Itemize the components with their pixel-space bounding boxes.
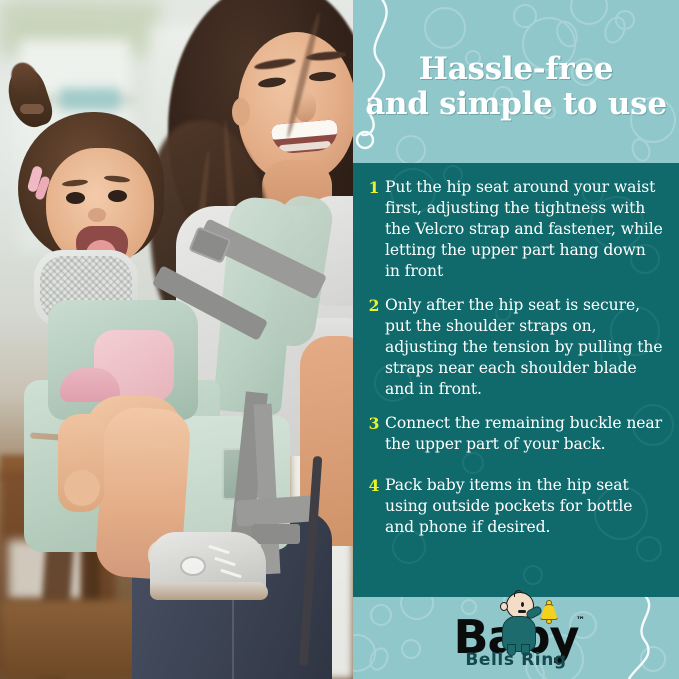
step-number: 2 [363,295,385,316]
step-number: 1 [363,177,385,198]
step-number: 3 [363,413,385,434]
step-text: Put the hip seat around your waist first… [385,177,663,282]
mascot-mouth [518,610,526,613]
baby-eye-left [66,192,85,204]
page-title: Hassle-free and simple to use [353,52,679,123]
woman-ear [232,98,250,126]
trademark-symbol: ™ [576,616,585,626]
step-item: 4 Pack baby items in the hip seat using … [363,475,663,538]
step-number: 4 [363,475,385,496]
step-item: 2 Only after the hip seat is secure, put… [363,295,663,400]
sneaker-sole [150,582,268,600]
logo-tagline: Bells Ring [416,650,616,670]
background-teal-object [60,88,120,110]
hip-belt-strap [235,495,315,526]
bell-icon [538,600,560,624]
baby-hair-tie [20,104,44,114]
step-text: Pack baby items in the hip seat using ou… [385,475,663,538]
step-item: 1 Put the hip seat around your waist fir… [363,177,663,282]
brand-logo[interactable]: Baby ™ [353,604,679,679]
headline-line-2: and simple to use [353,87,679,122]
step-text: Only after the hip seat is secure, put t… [385,295,663,400]
mascot-eye [521,602,524,607]
baby-eye-right [108,190,127,202]
step-item: 3 Connect the remaining buckle near the … [363,413,663,455]
bell-body [540,604,558,620]
mascot-ear [500,602,508,611]
instructions-band: 1 Put the hip seat around your waist fir… [353,163,679,597]
bell-clapper [546,619,552,624]
baby-mascot-icon [494,592,548,654]
product-lifestyle-photo [0,0,353,679]
headline-line-1: Hassle-free [419,51,613,87]
steps-list: 1 Put the hip seat around your waist fir… [353,163,679,597]
infographic-root: 1 Put the hip seat around your waist fir… [0,0,679,679]
sneaker-logo [182,558,204,574]
step-text: Connect the remaining buckle near the up… [385,413,663,455]
hip-belt-tail [252,524,300,544]
wood-floor [0,600,150,679]
baby-hand [64,470,100,506]
baby-nose [88,208,106,222]
text-panel: 1 Put the hip seat around your waist fir… [353,0,679,679]
mascot-hair-curl [514,590,523,597]
